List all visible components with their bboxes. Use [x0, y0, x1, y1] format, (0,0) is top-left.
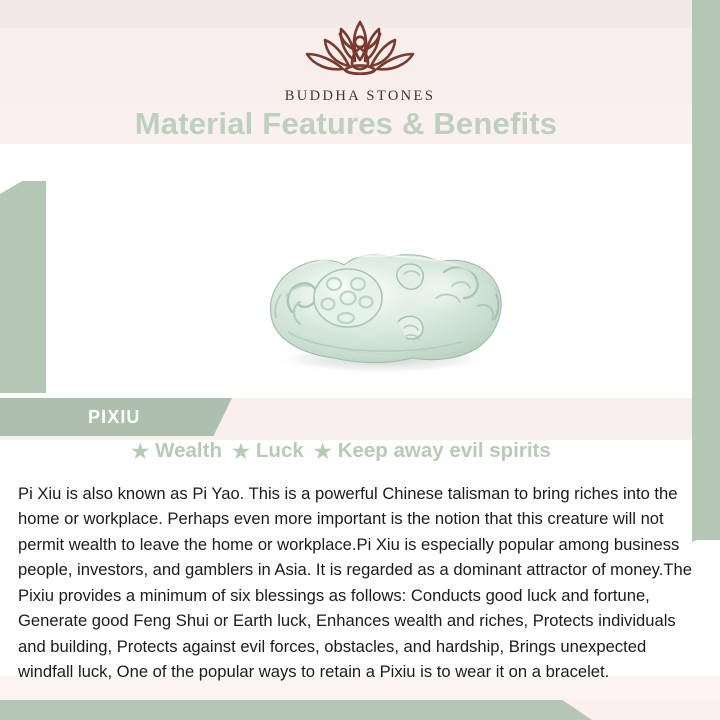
benefit-label: Keep away evil spirits	[338, 439, 551, 463]
brand-wordmark: BUDDHA STONES	[0, 88, 720, 105]
product-infographic-poster: BUDDHA STONES Material Features & Benefi…	[0, 0, 720, 720]
benefit-item: ★ Keep away evil spirits	[314, 439, 561, 464]
bottom-pink-band	[560, 700, 720, 720]
star-icon: ★	[232, 439, 250, 464]
left-green-band	[0, 181, 46, 393]
benefit-label: Wealth	[155, 439, 222, 463]
right-green-band-tip	[692, 512, 720, 542]
star-icon: ★	[314, 439, 332, 464]
lotus-meditation-figure-icon	[285, 14, 435, 86]
description-paragraph: Pi Xiu is also known as Pi Yao. This is …	[18, 481, 694, 685]
brand-logo: BUDDHA STONES	[0, 14, 720, 105]
pixiu-product-image	[248, 236, 516, 376]
pixiu-row-pink-band	[200, 398, 692, 436]
product-label: PIXIU	[88, 398, 141, 436]
benefit-item: ★ Wealth	[131, 439, 232, 464]
benefits-row: ★ Wealth ★ Luck ★ Keep away evil spirits	[0, 438, 692, 464]
star-icon: ★	[131, 439, 149, 464]
bottom-green-band	[0, 700, 592, 720]
benefit-label: Luck	[256, 439, 304, 463]
page-title: Material Features & Benefits	[0, 104, 692, 144]
benefit-item: ★ Luck	[232, 439, 314, 464]
